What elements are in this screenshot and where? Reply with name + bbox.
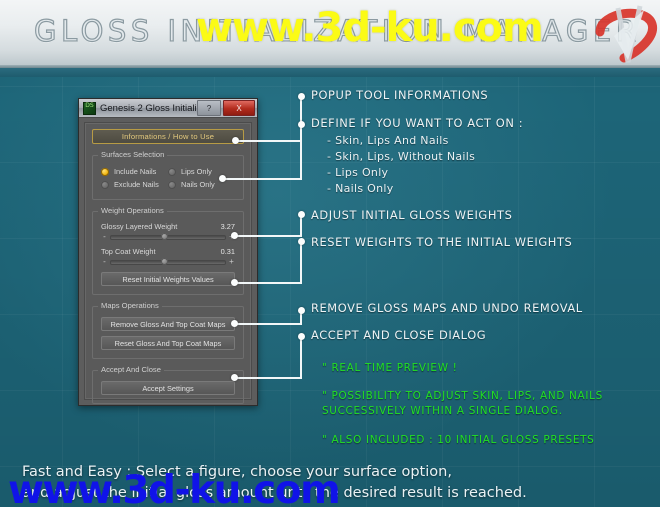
annotation-adjust: ADJUST INITIAL GLOSS WEIGHTS <box>311 208 512 222</box>
leader-dot <box>298 121 305 128</box>
radio-dot-icon <box>101 181 109 189</box>
slider-handle[interactable] <box>161 258 168 265</box>
leader-dot <box>231 279 238 286</box>
leader-dot <box>231 232 238 239</box>
glossy-layered-weight-row: Glossy Layered Weight 3.27 <box>101 222 235 231</box>
slider-handle[interactable] <box>161 233 168 240</box>
radio-include-nails[interactable]: Include Nails <box>101 167 168 176</box>
watermark-bottom: www.3d-ku.com <box>8 468 339 507</box>
reset-initial-weights-button[interactable]: Reset Initial Weights Values <box>101 272 235 286</box>
weight-operations-label: Weight Operations <box>98 206 167 215</box>
leader-line-accept <box>234 377 302 379</box>
radio-label: Nails Only <box>181 180 215 189</box>
top-coat-weight-slider[interactable]: - + <box>101 257 235 267</box>
annotation-popup: POPUP TOOL INFORMATIONS <box>311 88 488 102</box>
accept-and-close-label: Accept And Close <box>98 365 164 374</box>
daz-studio-icon <box>83 102 96 115</box>
surfaces-selection-label: Surfaces Selection <box>98 150 167 159</box>
weight-operations-group: Weight Operations Glossy Layered Weight … <box>92 211 244 295</box>
radio-label: Exclude Nails <box>114 180 159 189</box>
decrement-icon[interactable]: - <box>101 259 108 265</box>
slider-track[interactable] <box>110 235 226 240</box>
leader-line-remove <box>234 323 302 325</box>
radio-label: Include Nails <box>114 167 156 176</box>
annotation-define-item-2: - Lips Only <box>327 166 388 179</box>
screenshot-root: GLOSS INITIALIZATION MANAGER www.3d-ku.c… <box>0 0 660 507</box>
leader-line-define-v <box>300 124 302 179</box>
accept-and-close-group: Accept And Close Accept Settings <box>92 370 244 404</box>
slider-value: 0.31 <box>221 247 235 256</box>
slider-label: Glossy Layered Weight <box>101 222 177 231</box>
leader-dot <box>232 137 239 144</box>
informations-how-to-use-button[interactable]: Informations / How to Use <box>92 129 244 144</box>
leader-dot <box>231 374 238 381</box>
leader-line-define <box>222 178 302 180</box>
annotation-define: DEFINE IF YOU WANT TO ACT ON : <box>311 116 523 130</box>
dialog-title: Genesis 2 Gloss Initializer <box>100 103 210 114</box>
annotation-define-item-0: - Skin, Lips And Nails <box>327 134 449 147</box>
increment-icon[interactable]: + <box>228 259 235 265</box>
leader-dot <box>298 93 305 100</box>
dialog-body: Informations / How to Use Surfaces Selec… <box>84 122 252 400</box>
radio-dot-icon <box>168 181 176 189</box>
banner-underline <box>0 68 660 77</box>
leader-line-accept-v <box>300 336 302 378</box>
radio-label: Lips Only <box>181 167 212 176</box>
feature-line-1: " POSSIBILITY TO ADJUST SKIN, LIPS, AND … <box>322 390 603 402</box>
radio-lips-only[interactable]: Lips Only <box>168 167 235 176</box>
radio-dot-icon <box>101 168 109 176</box>
glossy-layered-weight-slider[interactable]: - + <box>101 232 235 242</box>
maps-operations-group: Maps Operations Remove Gloss And Top Coa… <box>92 306 244 359</box>
leader-dot <box>219 175 226 182</box>
feature-line-2: SUCCESSIVELY WITHIN A SINGLE DIALOG. <box>322 405 563 417</box>
annotation-define-item-3: - Nails Only <box>327 182 394 195</box>
close-button[interactable]: X <box>223 100 255 116</box>
dialog-titlebar[interactable]: Genesis 2 Gloss Initializer ? X <box>79 99 257 118</box>
maps-operations-label: Maps Operations <box>98 301 162 310</box>
feature-line-3: " ALSO INCLUDED : 10 INITIAL GLOSS PRESE… <box>322 434 594 446</box>
slider-value: 3.27 <box>221 222 235 231</box>
leader-line-popup <box>235 140 302 142</box>
3dku-swoosh-logo-icon <box>588 2 658 70</box>
titlebar-buttons: ? X <box>197 100 255 116</box>
reset-gloss-maps-button[interactable]: Reset Gloss And Top Coat Maps <box>101 336 235 350</box>
top-coat-weight-row: Top Coat Weight 0.31 <box>101 247 235 256</box>
leader-dot <box>298 307 305 314</box>
annotation-accept: ACCEPT AND CLOSE DIALOG <box>311 328 486 342</box>
leader-dot <box>298 333 305 340</box>
watermark-top: www.3d-ku.com <box>196 5 543 51</box>
remove-gloss-maps-button[interactable]: Remove Gloss And Top Coat Maps <box>101 317 235 331</box>
gloss-initializer-dialog[interactable]: Genesis 2 Gloss Initializer ? X Informat… <box>78 98 258 406</box>
surfaces-radio-group: Include Nails Lips Only Exclude Nails Na… <box>101 165 235 191</box>
accept-settings-button[interactable]: Accept Settings <box>101 381 235 395</box>
leader-line-adjust <box>234 235 302 237</box>
radio-nails-only[interactable]: Nails Only <box>168 180 235 189</box>
radio-exclude-nails[interactable]: Exclude Nails <box>101 180 168 189</box>
help-button[interactable]: ? <box>197 100 221 116</box>
radio-dot-icon <box>168 168 176 176</box>
leader-dot <box>298 211 305 218</box>
leader-dot <box>298 238 305 245</box>
leader-line-reset <box>234 282 302 284</box>
annotation-define-item-1: - Skin, Lips, Without Nails <box>327 150 475 163</box>
annotation-reset: RESET WEIGHTS TO THE INITIAL WEIGHTS <box>311 235 572 249</box>
leader-dot <box>231 320 238 327</box>
slider-track[interactable] <box>110 260 226 265</box>
leader-line-reset-v <box>300 241 302 283</box>
decrement-icon[interactable]: - <box>101 234 108 240</box>
feature-line-0: " REAL TIME PREVIEW ! <box>322 362 458 374</box>
slider-label: Top Coat Weight <box>101 247 156 256</box>
annotation-remove: REMOVE GLOSS MAPS AND UNDO REMOVAL <box>311 301 583 315</box>
